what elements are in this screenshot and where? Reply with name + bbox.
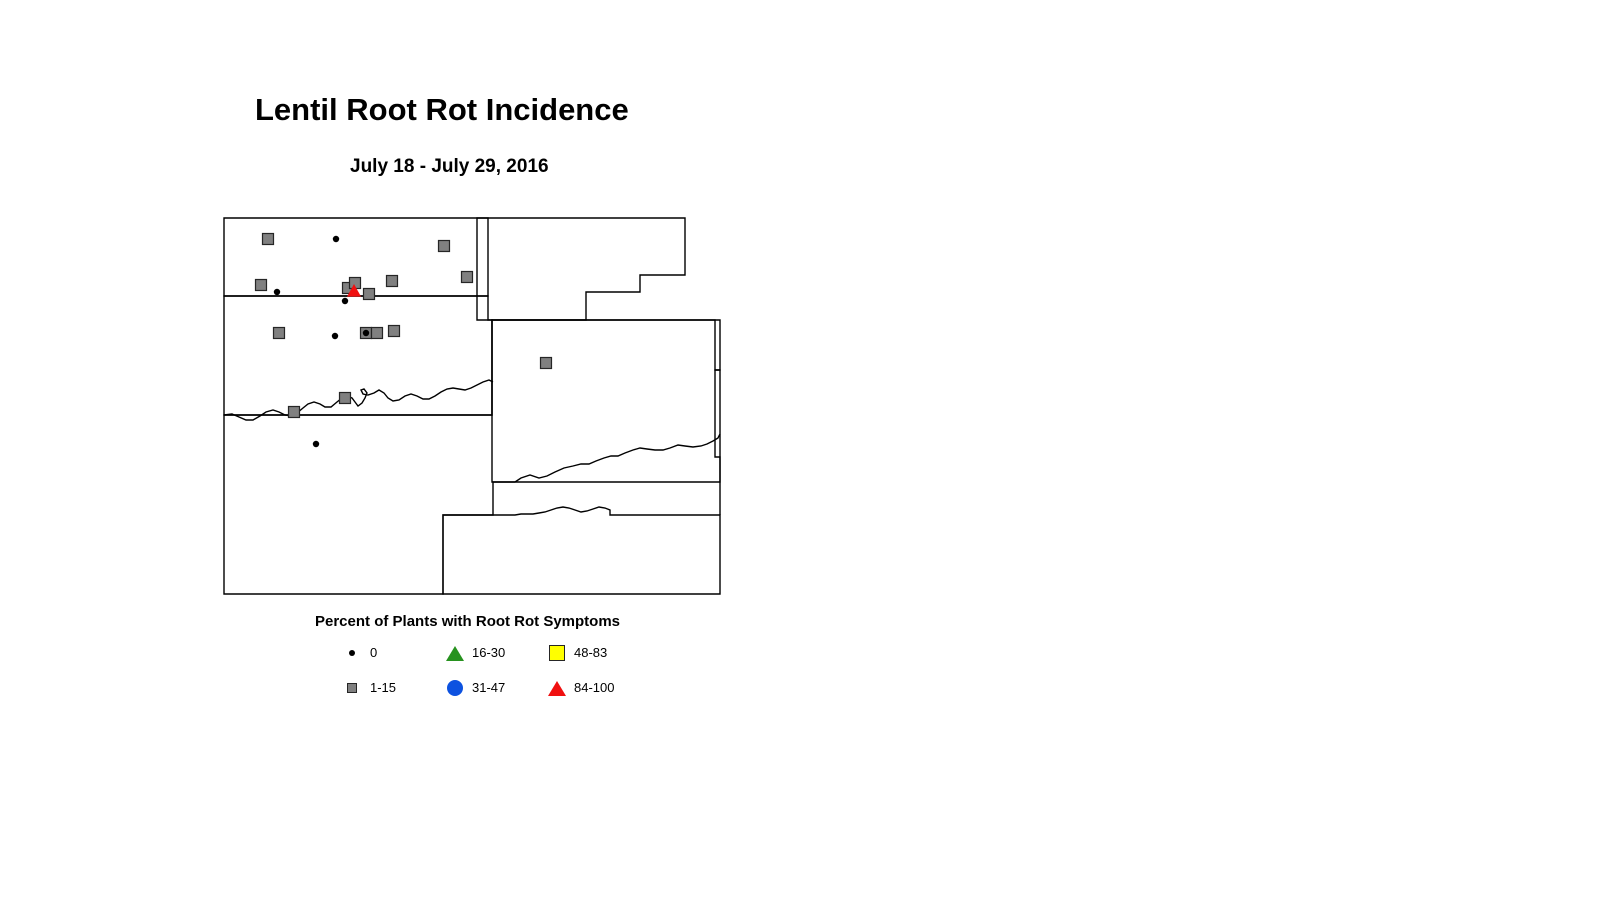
map-subtitle: July 18 - July 29, 2016 <box>350 156 549 178</box>
county-outline-southeast <box>443 507 720 594</box>
legend-label-84-100: 84-100 <box>574 680 614 695</box>
county-outline-midwest <box>224 296 492 415</box>
survey-point <box>313 441 319 447</box>
legend-symbol-circle-blue-icon <box>443 677 465 699</box>
survey-point <box>462 272 473 283</box>
legend-title: Percent of Plants with Root Rot Symptoms <box>315 613 620 630</box>
legend-label-0: 0 <box>370 645 377 660</box>
survey-point <box>333 236 339 242</box>
legend-label-1-15: 1-15 <box>370 680 396 695</box>
survey-point <box>274 289 280 295</box>
survey-point <box>389 326 400 337</box>
survey-point <box>289 407 300 418</box>
legend-symbol-dot-icon <box>341 642 363 664</box>
survey-point <box>340 393 351 404</box>
legend-label-16-30: 16-30 <box>472 645 505 660</box>
county-outline-southwest <box>224 320 720 594</box>
survey-point <box>363 330 369 336</box>
survey-point <box>541 358 552 369</box>
legend-symbol-square-small-icon <box>341 677 363 699</box>
legend-symbol-square-yellow-icon <box>545 642 567 664</box>
survey-point <box>387 276 398 287</box>
survey-point <box>372 328 383 339</box>
survey-point <box>332 333 338 339</box>
figure-root: Lentil Root Rot Incidence July 18 - July… <box>0 0 1612 900</box>
legend-label-31-47: 31-47 <box>472 680 505 695</box>
page-title: Lentil Root Rot Incidence <box>255 92 629 128</box>
river-boundary <box>224 380 493 420</box>
legend-symbol-triangle-green-icon <box>443 642 465 664</box>
survey-point <box>342 298 348 304</box>
survey-point <box>263 234 274 245</box>
survey-point <box>274 328 285 339</box>
legend-label-48-83: 48-83 <box>574 645 607 660</box>
legend-symbol-triangle-red-icon <box>545 677 567 699</box>
legend: Percent of Plants with Root Rot Symptoms… <box>315 613 655 708</box>
survey-point <box>439 241 450 252</box>
survey-point <box>256 280 267 291</box>
county-outline-northeast <box>477 218 685 320</box>
survey-point <box>364 289 375 300</box>
map-graphic <box>215 210 735 610</box>
